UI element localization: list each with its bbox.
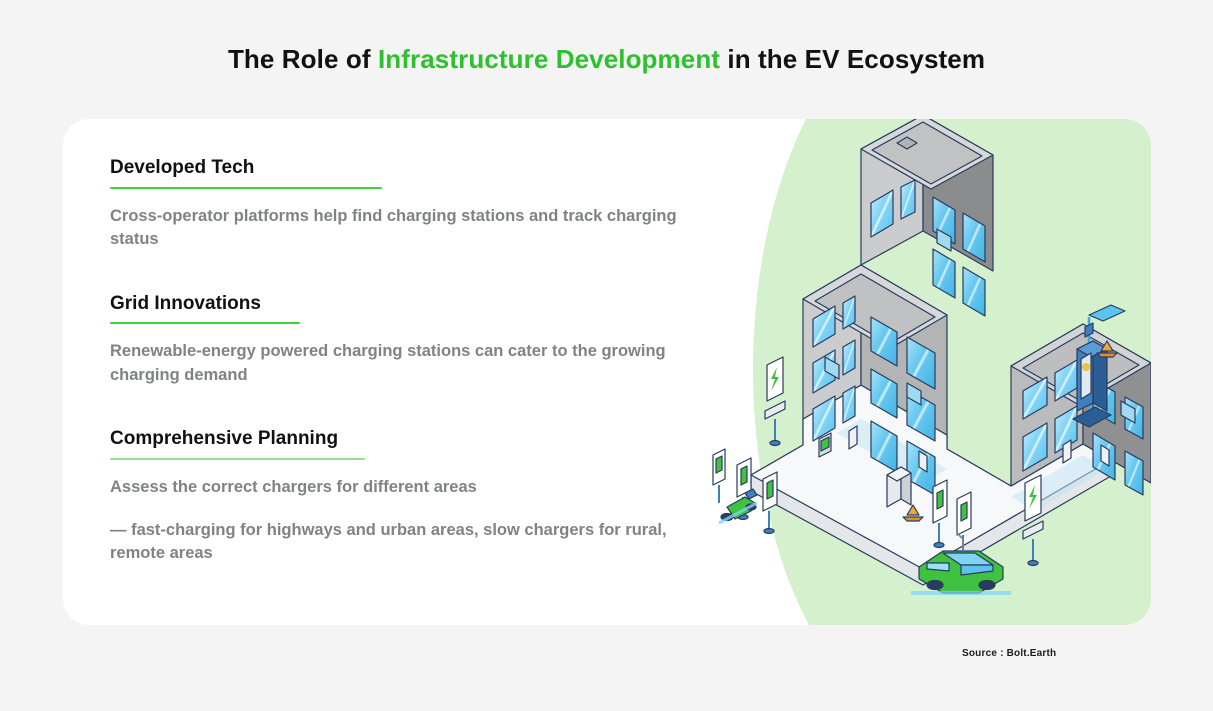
section-grid-innovations: Grid Innovations Renewable-energy powere… [110, 293, 710, 388]
section-rule [110, 322, 300, 324]
source-attribution: Source : Bolt.Earth [962, 648, 1056, 659]
isometric-ev-city-illustration [711, 119, 1151, 625]
ev-charging-post [763, 472, 777, 534]
section-paragraph: — fast-charging for highways and urban a… [110, 519, 710, 566]
section-rule [110, 187, 382, 189]
section-heading: Comprehensive Planning [110, 428, 710, 451]
title-highlight: Infrastructure Development [378, 44, 720, 74]
ev-charging-post [713, 449, 725, 503]
section-paragraph: Cross-operator platforms help find charg… [110, 205, 710, 252]
title-before: The Role of [228, 44, 378, 74]
section-comprehensive-planning: Comprehensive Planning Assess the correc… [110, 428, 710, 565]
section-paragraph: Assess the correct chargers for differen… [110, 476, 710, 499]
section-rule [110, 458, 365, 460]
page-title: The Role of Infrastructure Development i… [0, 44, 1213, 75]
text-column: Developed Tech Cross-operator platforms … [110, 157, 710, 565]
section-heading: Developed Tech [110, 157, 710, 180]
title-after: in the EV Ecosystem [720, 44, 985, 74]
section-paragraph: Renewable-energy powered charging statio… [110, 340, 710, 387]
section-developed-tech: Developed Tech Cross-operator platforms … [110, 157, 710, 252]
bolt-sign [765, 357, 785, 446]
content-card: Developed Tech Cross-operator platforms … [63, 119, 1151, 625]
section-heading: Grid Innovations [110, 293, 710, 316]
